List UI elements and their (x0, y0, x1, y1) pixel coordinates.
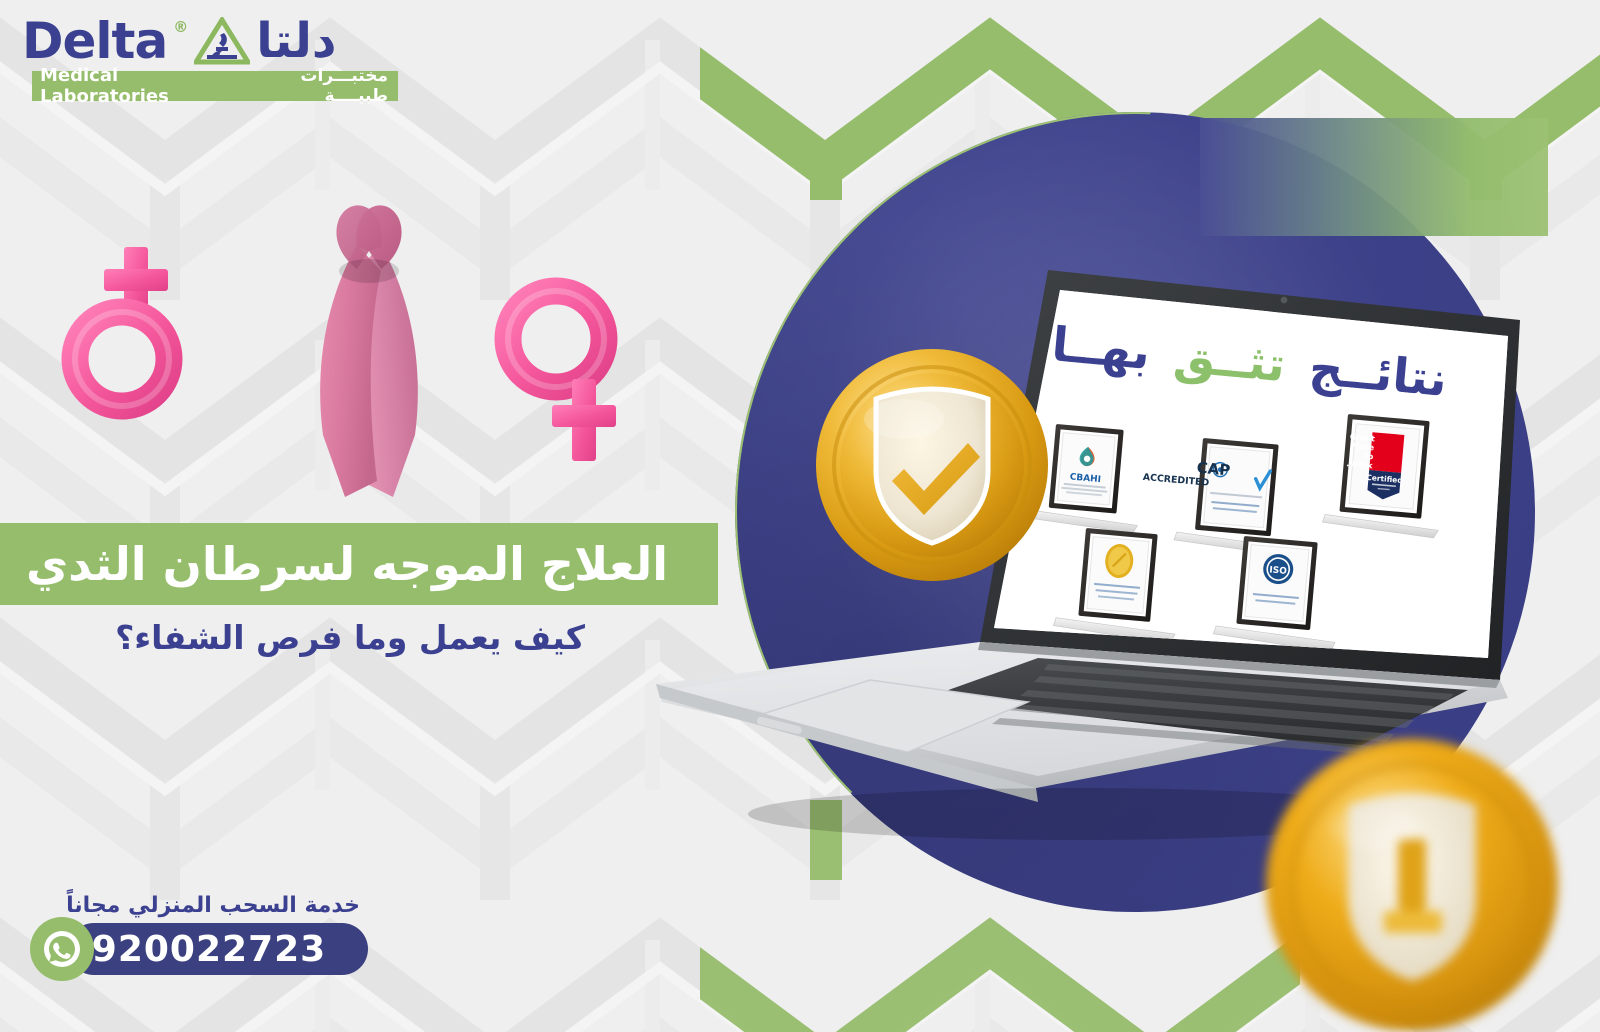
logo-wordmark-ar: دلتا (256, 17, 336, 65)
gold-coin-award-icon (1262, 735, 1562, 1032)
svg-text:ISO: ISO (1269, 565, 1288, 577)
logo-tagline-ar: مختبـــرات طبيــــة (240, 66, 388, 106)
phone-cta-button[interactable]: 920022723 (68, 923, 368, 975)
microscope-triangle-icon (194, 17, 250, 65)
webcam-icon (1281, 297, 1288, 304)
home-collection-service-label: خدمة السحب المنزلي مجاناً (28, 893, 368, 918)
page-subtitle: كيف يعمل وما فرص الشفاء؟ (0, 618, 700, 657)
logo-tagline-bar: Medical Laboratories مختبـــرات طبيــــة (32, 71, 398, 101)
contact-block: خدمة السحب المنزلي مجاناً 920022723 (28, 893, 368, 975)
logo-wordmark-en: Delta (22, 16, 167, 66)
pink-awareness-ribbon-icon (265, 185, 475, 509)
awareness-graphics-group (60, 185, 680, 515)
screen-content: نتائــج تثــق بهــا CBAH (988, 283, 1518, 673)
logo-tagline-en: Medical Laboratories (40, 65, 240, 107)
gradient-accent-panel (1200, 118, 1548, 236)
gold-coin-shield-check-icon (812, 345, 1052, 585)
screen-title-part-3: بهــا (1049, 317, 1152, 381)
screen-title-part-2: تثــق (1172, 328, 1288, 393)
registered-trademark-icon: ® (173, 18, 188, 36)
brand-logo[interactable]: Delta ® دلتا Medical Laboratories مختبــ… (18, 16, 398, 101)
female-gender-symbol-icon (60, 235, 220, 435)
page-title: العلاج الموجه لسرطان الثدي (26, 540, 668, 588)
whatsapp-icon[interactable] (30, 917, 94, 981)
phone-number: 920022723 (92, 929, 326, 970)
poster-canvas: Delta ® دلتا Medical Laboratories مختبــ… (0, 0, 1600, 1032)
